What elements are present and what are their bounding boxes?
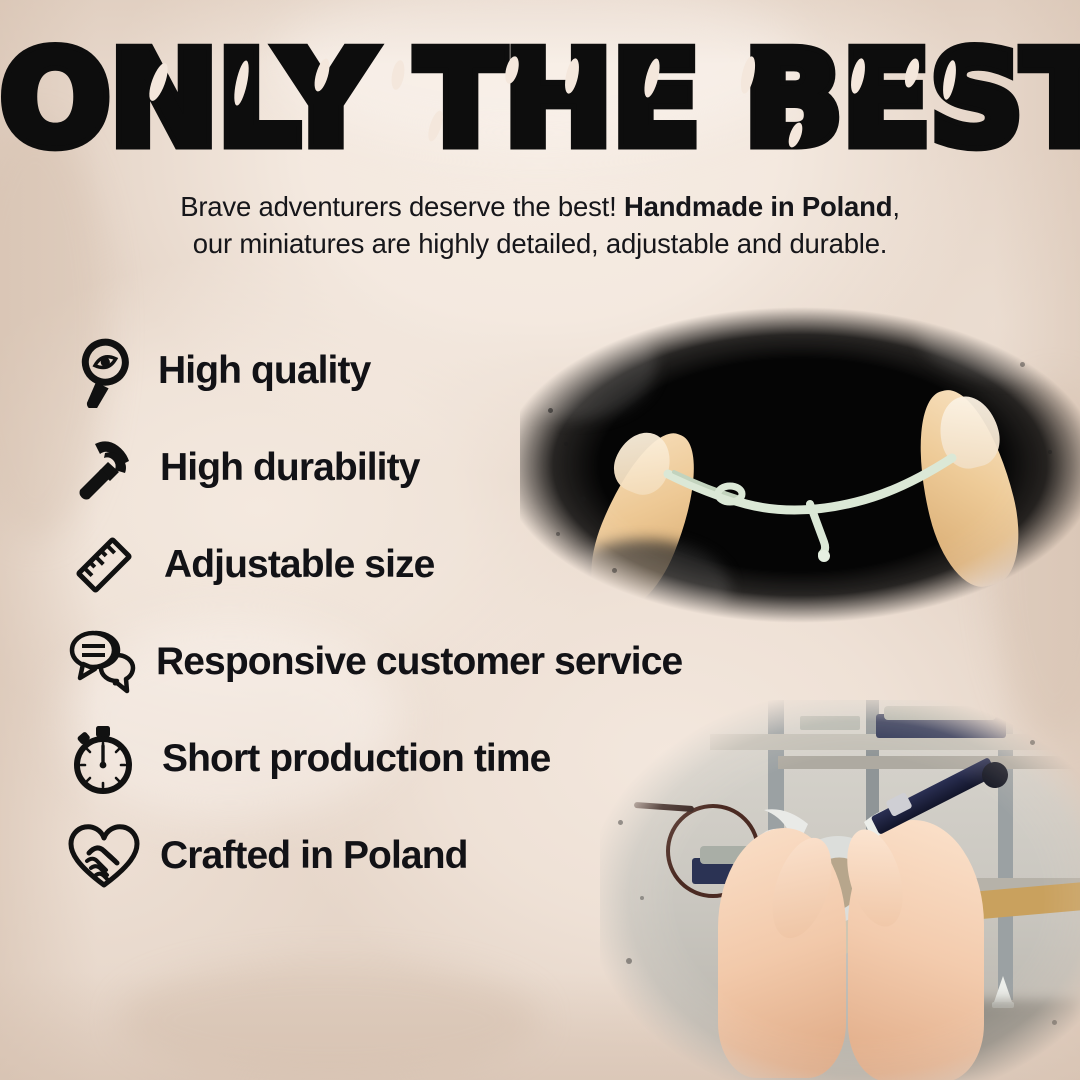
- miniature-part: [660, 442, 960, 572]
- photo-frame: [600, 700, 1080, 1080]
- photo-speck: [1048, 450, 1052, 454]
- feature-label: High durability: [160, 446, 420, 490]
- subtitle: Brave adventurers deserve the best! Hand…: [0, 188, 1080, 263]
- magnifier-eye-icon: [62, 329, 146, 413]
- photo-speck: [548, 408, 553, 413]
- heart-handshake-icon: [62, 814, 146, 898]
- subtitle-line-2: our miniatures are highly detailed, adju…: [0, 225, 1080, 262]
- subtitle-line-1-tail: ,: [892, 191, 899, 222]
- headline-block: ONLY THE BEST: [0, 0, 1080, 180]
- page-title: ONLY THE BEST: [0, 34, 1080, 164]
- photo-speck: [612, 568, 617, 573]
- photo-speck: [1020, 362, 1025, 367]
- photo-speck: [1052, 1020, 1057, 1025]
- miniature-cluster: [884, 706, 996, 720]
- photo-speck: [618, 820, 623, 825]
- subtitle-highlight: Handmade in Poland: [624, 191, 892, 222]
- subtitle-line-1: Brave adventurers deserve the best! Hand…: [0, 188, 1080, 225]
- speech-bubbles-icon: [62, 620, 146, 704]
- promo-graphic: ONLY THE BEST Brave adventurers deserve …: [0, 0, 1080, 1080]
- photo-speck: [626, 958, 632, 964]
- miniature-cluster: [800, 716, 860, 730]
- feature-label: Short production time: [162, 737, 550, 781]
- stopwatch-icon: [62, 717, 146, 801]
- foreground-arm-left: [600, 760, 684, 1080]
- feature-label: Adjustable size: [164, 543, 434, 587]
- feature-label: Responsive customer service: [156, 640, 682, 684]
- photo-speck: [564, 442, 568, 446]
- photo-frame: [520, 300, 1080, 630]
- feature-label: High quality: [158, 349, 370, 393]
- subtitle-line-1-lead: Brave adventurers deserve the best!: [180, 191, 624, 222]
- photo-speck: [580, 496, 586, 502]
- photo-speck: [556, 532, 560, 536]
- workshop-painting-photo: [600, 700, 1080, 1080]
- photo-speck: [1030, 740, 1035, 745]
- ruler-icon: [62, 523, 146, 607]
- feature-label: Crafted in Poland: [160, 834, 468, 878]
- shelf-board-upper: [778, 756, 1078, 769]
- photo-speck: [640, 896, 644, 900]
- hammer-icon: [62, 426, 146, 510]
- photo-edge-fade-2: [560, 540, 730, 630]
- flexible-miniature-photo: [520, 300, 1080, 630]
